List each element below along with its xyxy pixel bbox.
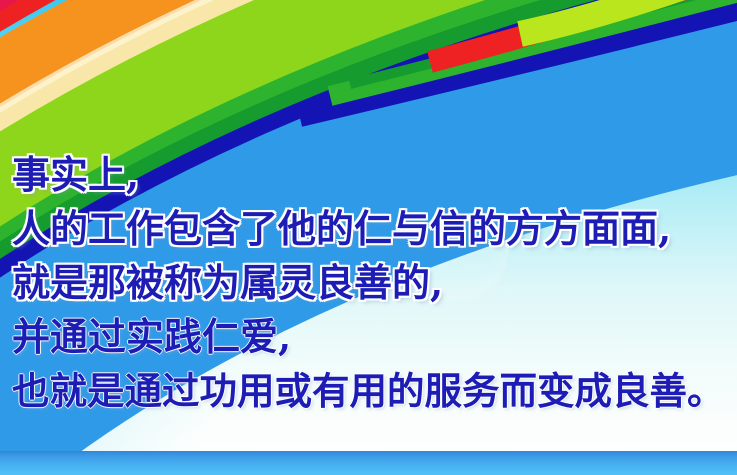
slide-canvas: 事实上, 人的工作包含了他的仁与信的方方面面, 就是那被称为属灵良善的, 并通过…: [0, 0, 737, 475]
slide-text-line-4: 并通过实践仁爱,: [12, 306, 291, 361]
slide-text-line-5: 也就是通过功用或有用的服务而变成良善。: [12, 360, 725, 415]
slide-text-line-1: 事实上,: [12, 144, 139, 199]
slide-text-line-3: 就是那被称为属灵良善的,: [12, 252, 443, 307]
slide-text-line-2: 人的工作包含了他的仁与信的方方面面,: [12, 198, 671, 253]
slide-text-block: 事实上, 人的工作包含了他的仁与信的方方面面, 就是那被称为属灵良善的, 并通过…: [0, 0, 737, 475]
